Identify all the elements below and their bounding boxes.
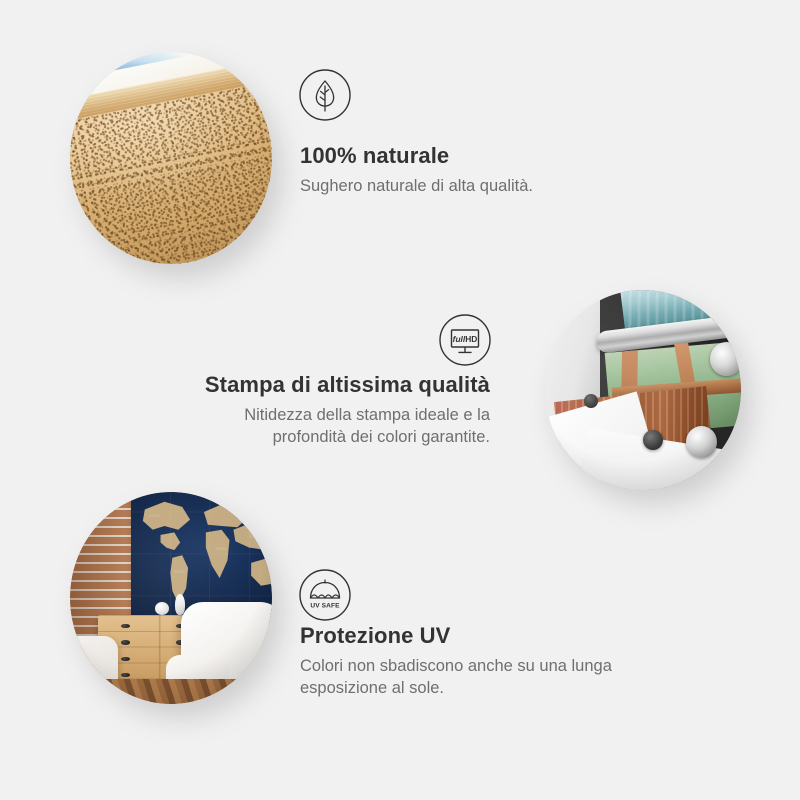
feature-description-uv-protection: Colori non sbadiscono anche su una lunga…	[300, 655, 660, 699]
feature-text-uv-protection: Protezione UV Colori non sbadiscono anch…	[300, 623, 730, 699]
room-vignette	[70, 492, 272, 704]
cork-photo-inner	[70, 52, 272, 264]
uv-safe-label: UV SAFE	[310, 602, 340, 609]
printer-photo-inner	[545, 290, 741, 490]
feature-title-uv-protection: Protezione UV	[300, 623, 730, 649]
feature-title-print-quality: Stampa di altissima qualità	[90, 372, 490, 398]
cork-vignette	[70, 52, 272, 264]
printing-machine-photo	[545, 290, 741, 490]
interior-world-map-photo: NORTH SOUTH AFRICA ASIA	[70, 492, 272, 704]
feature-description-print-quality: Nitidezza della stampa ideale e la profo…	[205, 404, 490, 448]
fullhd-label-part1: fullHD	[453, 334, 478, 344]
fullhd-label-part2: HD	[465, 334, 477, 344]
room-photo-inner: NORTH SOUTH AFRICA ASIA	[70, 492, 272, 704]
feature-text-print-quality: Stampa di altissima qualità Nitidezza de…	[90, 372, 490, 448]
features-page: 100% naturale Sughero naturale di alta q…	[0, 0, 800, 800]
feature-text-natural: 100% naturale Sughero naturale di alta q…	[300, 143, 720, 197]
printer-vignette	[545, 290, 741, 490]
uv-safe-umbrella-icon: UV SAFE	[298, 568, 352, 622]
cork-texture-photo	[70, 52, 272, 264]
fullhd-monitor-icon: fullHD	[438, 313, 492, 367]
leaf-icon	[298, 68, 352, 122]
feature-title-natural: 100% naturale	[300, 143, 720, 169]
feature-description-natural: Sughero naturale di alta qualità.	[300, 175, 720, 197]
